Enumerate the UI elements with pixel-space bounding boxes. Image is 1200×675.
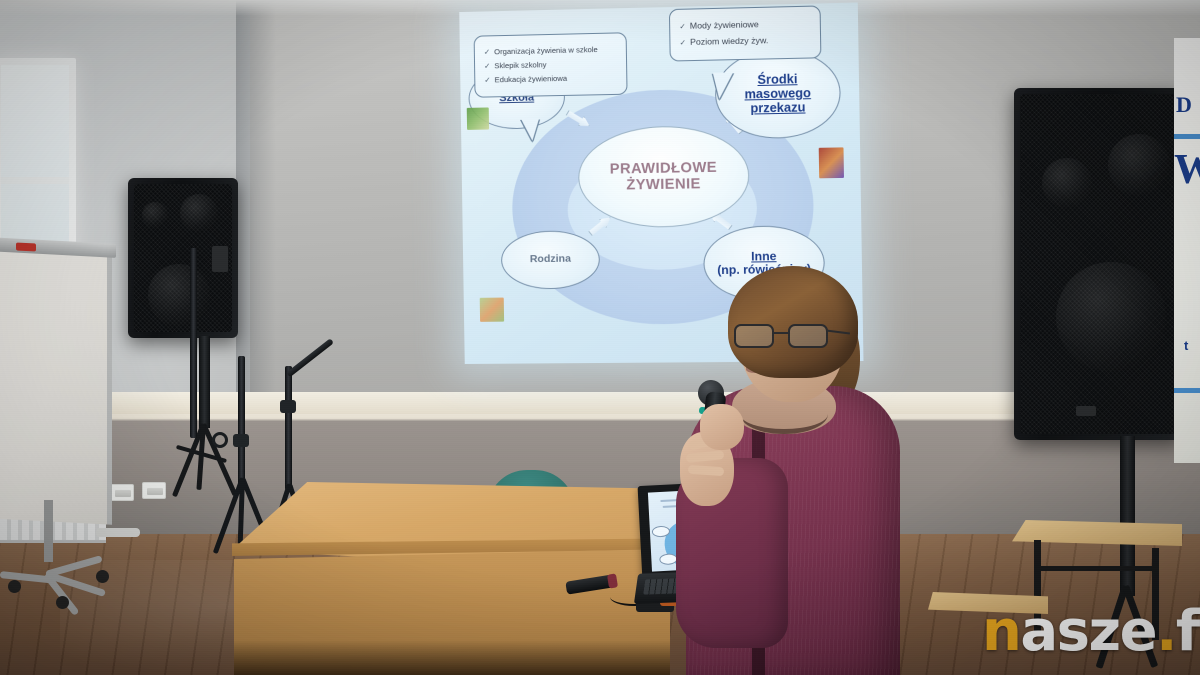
whiteboard-caster [56,596,69,609]
eyeglasses [734,324,830,350]
banner-accent-bar [1174,388,1200,393]
callout-right-item: Poziom wiedzy żyw. [679,32,809,51]
mic-stand-clamp [280,400,296,413]
watermark-dot: . [1156,599,1176,664]
power-outlet [110,484,134,501]
banner-letter-w: W [1174,146,1200,194]
mic-stand-pole-tall [190,248,197,438]
photo-canvas: PRAWIDŁOWE ŻYWIENIE Szkoła Rodzina Środk… [0,0,1200,675]
watermark-n: n [982,599,1020,664]
eyeglass-lens-left [734,324,774,348]
slide-callout-left: Organizacja żywienia w szkole Sklepik sz… [474,32,628,98]
slide-callout-right: Mody żywieniowe Poziom wiedzy żyw. [669,5,822,61]
mic-stand-clamp [233,434,249,447]
hand-right [700,404,744,450]
presenter-person [666,268,918,675]
speaker-badge [1076,406,1096,416]
pa-speaker-left [128,178,238,338]
node-label-srodki-1: Środki [744,72,811,88]
slide-clipart-media [819,147,844,178]
red-marker [16,242,36,251]
callout-left-item: Organizacja żywienia w szkole [484,43,616,60]
watermark-fm: fm [1176,599,1200,664]
callout-left-item: Edukacja żywieniowa [484,71,616,88]
center-line-2: ŻYWIENIE [610,176,718,194]
speaker-tweeter [1108,134,1170,196]
roll-up-banner: D W t [1174,38,1200,463]
node-label-srodki-2: masowego [744,86,811,102]
bubble-right-tail [713,72,734,99]
slide-clipart-family [480,298,504,322]
power-outlet [142,482,166,499]
hair [728,266,858,378]
speaker-stand-pole-left [199,336,210,428]
speaker-input-plate [212,246,228,272]
mic-stand-pole [238,356,245,486]
node-label-srodki-3: przekazu [745,100,812,115]
speaker-midrange [1042,158,1092,208]
banner-letter-t: t [1184,338,1188,353]
center-line-1: PRAWIDŁOWE [610,159,718,177]
banner-letter-d: D [1176,92,1192,118]
window-mullion [1,177,69,184]
pa-speaker-right [1014,88,1182,440]
watermark-nasze-fm: nasze.fm [982,604,1200,660]
bubble-left-tail [521,119,539,141]
mic-stand-pole [285,366,292,490]
eyeglass-bridge [774,332,788,334]
whiteboard-caster [96,570,109,583]
desk-floor-shadow [234,640,670,675]
slide-clipart-school [467,107,489,129]
whiteboard-caster [8,580,21,593]
speaker-tweeter [180,194,218,232]
folding-table-brace [1040,566,1158,571]
speaker-woofer [1056,262,1166,372]
node-label-rodzina: Rodzina [530,254,571,266]
speaker-midrange [142,202,168,228]
speaker-stand-pole-right [1120,436,1135,596]
whiteboard [0,239,112,524]
watermark-asze: asze [1020,599,1156,664]
eyeglass-lens-right [788,324,828,348]
radiator-pipe [96,528,140,537]
mic-stand-ring [212,432,228,448]
banner-accent-bar [1174,134,1200,139]
speaker-woofer [148,264,210,326]
